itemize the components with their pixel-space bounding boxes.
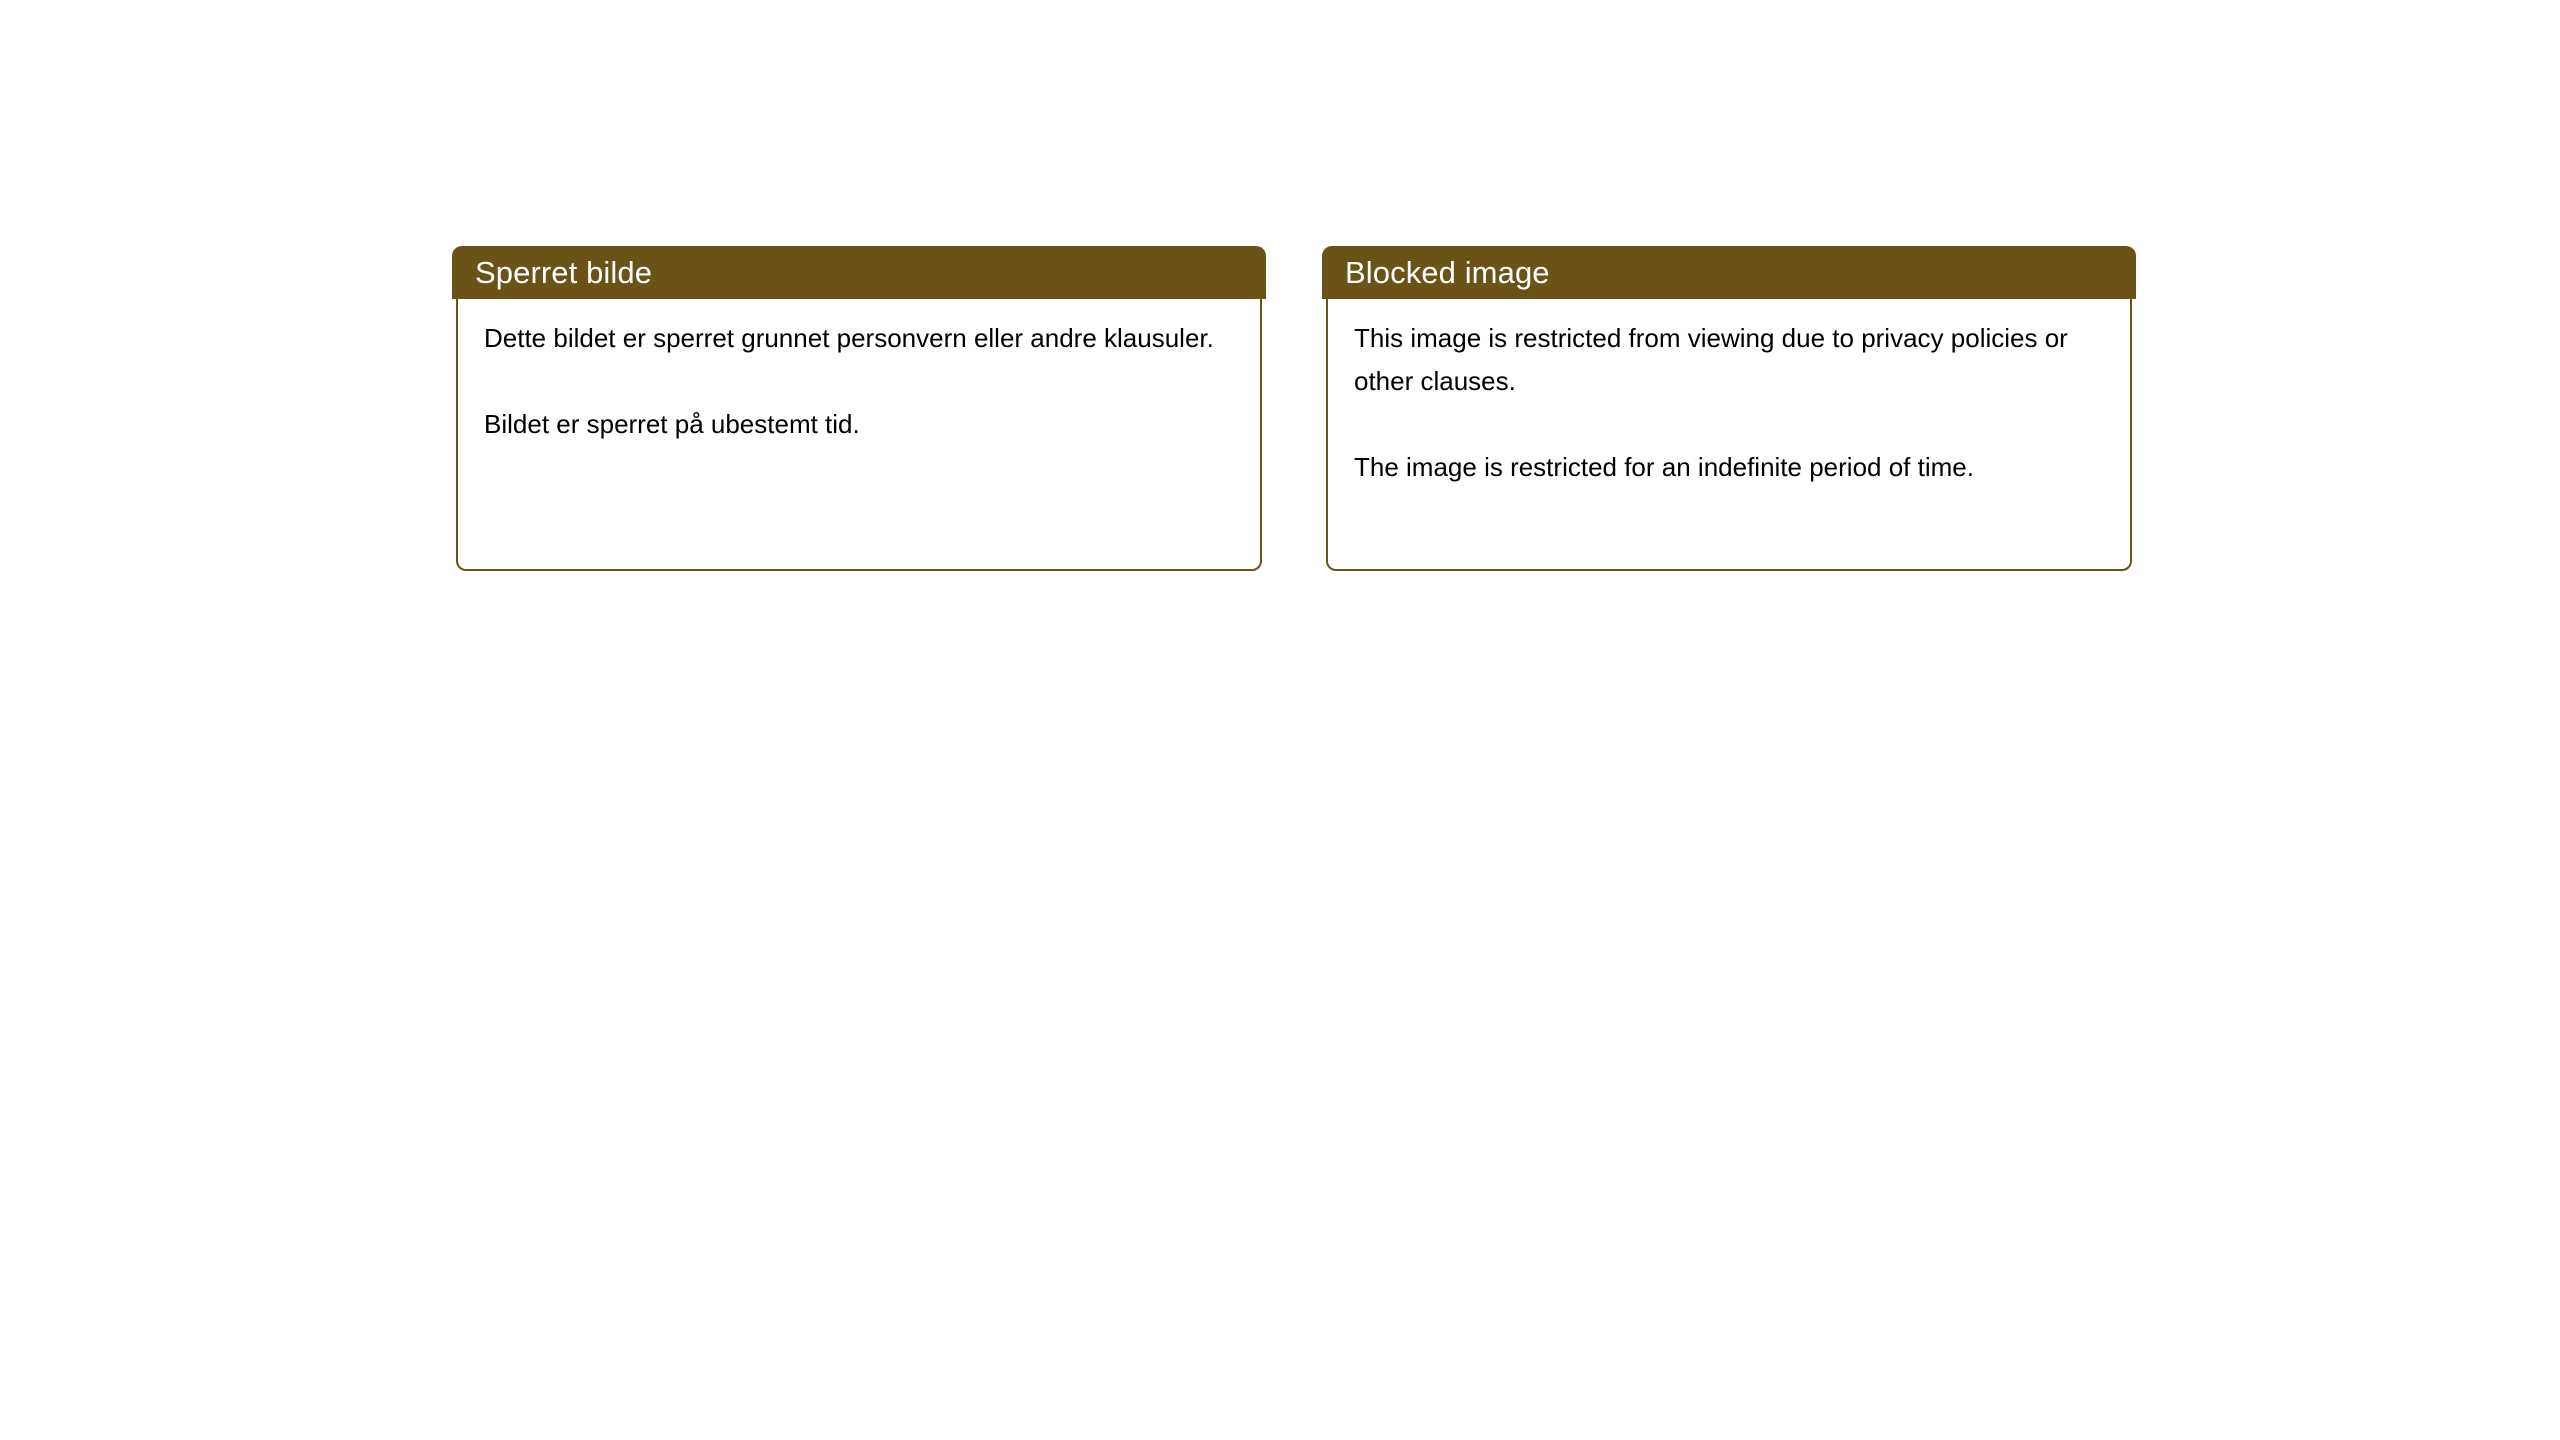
card-title-norwegian: Sperret bilde (475, 257, 652, 288)
card-title-english: Blocked image (1345, 257, 1550, 288)
page-root: Sperret bilde Dette bildet er sperret gr… (0, 0, 2560, 1440)
card-header-norwegian: Sperret bilde (452, 246, 1266, 299)
paragraph-spacer (1354, 403, 2106, 446)
card-paragraph-secondary-english: The image is restricted for an indefinit… (1354, 446, 2106, 489)
blocked-image-notice-card-english: Blocked image This image is restricted f… (1322, 246, 2136, 571)
card-paragraph-primary-norwegian: Dette bildet er sperret grunnet personve… (484, 317, 1236, 360)
card-body-english: This image is restricted from viewing du… (1326, 299, 2132, 571)
card-paragraph-primary-english: This image is restricted from viewing du… (1354, 317, 2106, 403)
paragraph-spacer (484, 360, 1236, 403)
blocked-image-notice-card-norwegian: Sperret bilde Dette bildet er sperret gr… (452, 246, 1266, 571)
card-body-norwegian: Dette bildet er sperret grunnet personve… (456, 299, 1262, 571)
card-paragraph-secondary-norwegian: Bildet er sperret på ubestemt tid. (484, 403, 1236, 446)
card-header-english: Blocked image (1322, 246, 2136, 299)
